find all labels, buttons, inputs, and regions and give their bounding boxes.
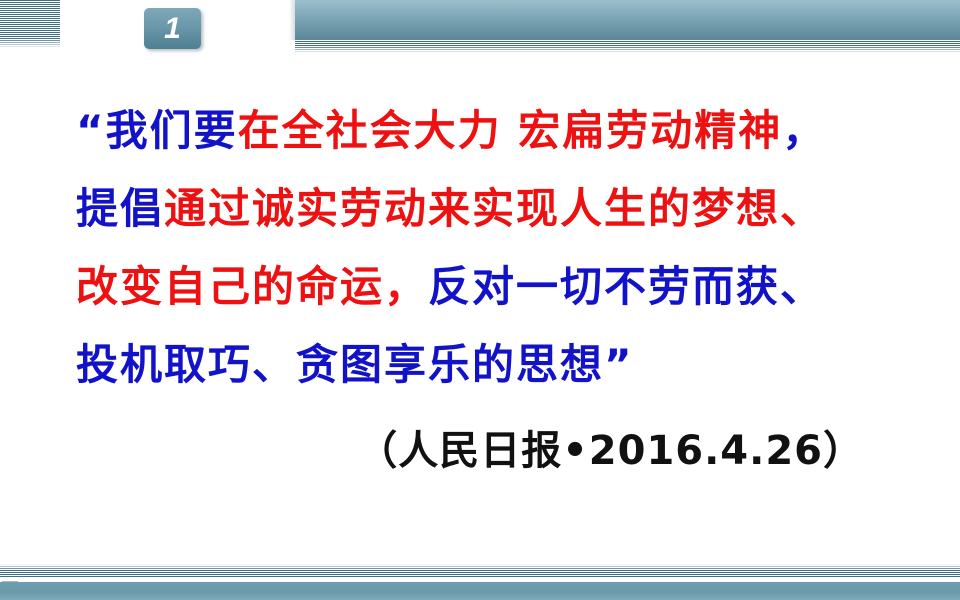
quote-segment: 通过诚实劳动来实现人生的梦想、 xyxy=(164,184,824,233)
slide-number-badge: 1 xyxy=(144,8,201,49)
quote-segment: “我们要 xyxy=(76,106,238,155)
slide-footer xyxy=(0,554,960,600)
quote-segment: ， xyxy=(782,106,826,155)
quote-line: 改变自己的命运，反对一切不劳而获、 xyxy=(76,248,898,326)
quote-segment: 提倡 xyxy=(76,184,164,233)
striped-block-decor-icon xyxy=(0,0,60,48)
header-gradient-bar-decor xyxy=(295,0,960,40)
slide-canvas: 1 “我们要在全社会大力 宏扁劳动精神， 提倡通过诚实劳动来实现人生的梦想、 改… xyxy=(0,0,960,600)
quote-line: 投机取巧、贪图享乐的思想” xyxy=(76,326,898,404)
footer-striped-band-decor-icon xyxy=(0,564,960,577)
quote-segment: 在全社会大力 宏扁劳动精神 xyxy=(238,106,783,155)
quote-line: “我们要在全社会大力 宏扁劳动精神， xyxy=(76,92,898,170)
header-striped-band-decor-icon xyxy=(295,41,960,53)
quote-line: 提倡通过诚实劳动来实现人生的梦想、 xyxy=(76,170,898,248)
footer-solid-bar-decor xyxy=(0,582,960,600)
slide-content: “我们要在全社会大力 宏扁劳动精神， 提倡通过诚实劳动来实现人生的梦想、 改变自… xyxy=(0,92,960,476)
quote-segment: 改变自己的命运， xyxy=(76,262,428,311)
quote-attribution: （人民日报•2016.4.26） xyxy=(0,418,864,476)
slide-header: 1 xyxy=(0,0,960,60)
quote-block: “我们要在全社会大力 宏扁劳动精神， 提倡通过诚实劳动来实现人生的梦想、 改变自… xyxy=(0,92,960,404)
quote-segment: 投机取巧、贪图享乐的思想” xyxy=(76,340,634,389)
quote-segment: 反对一切不劳而获、 xyxy=(428,262,824,311)
